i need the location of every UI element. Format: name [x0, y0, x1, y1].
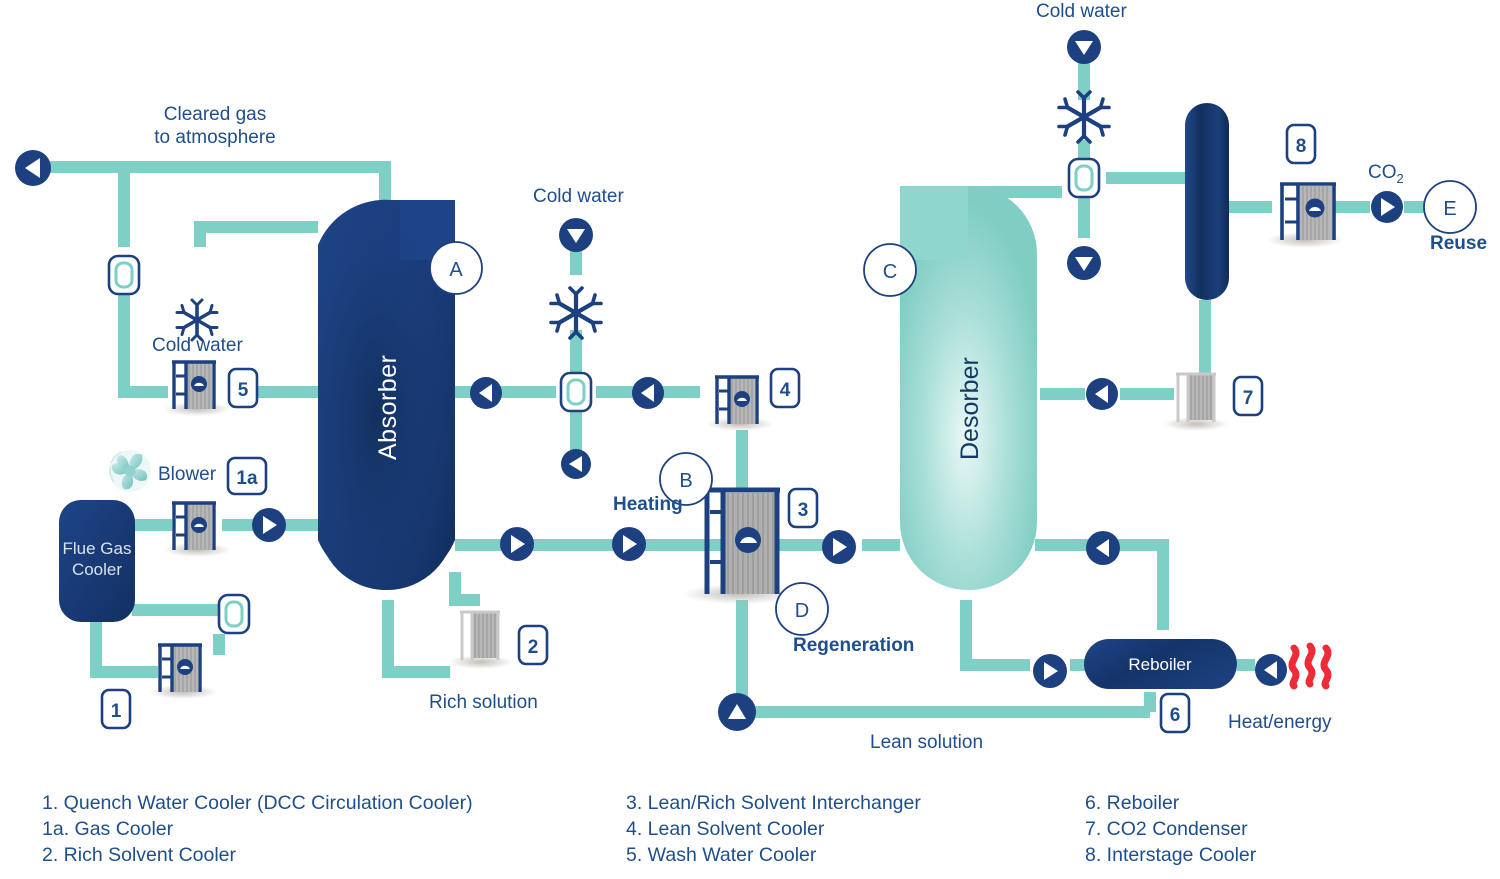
tag-1a: 1a — [228, 458, 266, 494]
pipe-rich-down — [455, 572, 480, 600]
pipe-absorber-bottom — [388, 600, 450, 672]
label-cleared-gas: Cleared gas to atmosphere — [130, 103, 300, 149]
arrow-desorber-vapor — [1086, 378, 1118, 410]
valve-coldwater-mid — [561, 373, 591, 411]
label-heat-energy: Heat/energy — [1228, 711, 1332, 734]
label-absorber: Absorber — [374, 330, 400, 460]
arrow-cooler4-left — [632, 377, 664, 409]
legend-column-2: 3. Lean/Rich Solvent Interchanger 4. Lea… — [626, 790, 921, 868]
tag-3: 3 — [789, 489, 817, 527]
svg-text:7: 7 — [1243, 388, 1254, 409]
label-blower: Blower — [158, 463, 216, 486]
arrow-coldwater-mid-in — [559, 218, 593, 252]
svg-text:2: 2 — [528, 637, 539, 658]
arrow-reboiler-heat-in — [1255, 654, 1287, 686]
stage-marker-E: E — [1424, 181, 1476, 233]
legend-item: 5. Wash Water Cooler — [626, 842, 921, 868]
legend-item: 7. CO2 Condenser — [1085, 816, 1256, 842]
svg-text:C: C — [883, 261, 897, 283]
heat-exchanger-2 — [449, 612, 513, 669]
stage-marker-C: C — [864, 244, 916, 296]
reboiler-label-text: Reboiler — [1128, 655, 1192, 674]
pipe-desorber-bottom-down — [966, 600, 1030, 665]
arrow-coldwater-mid-down — [561, 449, 591, 479]
arrow-rich-1 — [500, 527, 534, 561]
snowflake-icon-mid — [551, 288, 601, 338]
svg-text:4: 4 — [780, 380, 791, 401]
arrow-coldwater-top-in — [1067, 30, 1101, 64]
svg-text:1a: 1a — [236, 468, 258, 489]
label-heating: Heating — [613, 493, 683, 516]
svg-text:3: 3 — [798, 500, 809, 521]
valve-coldwater-top — [1069, 159, 1099, 197]
svg-text:D: D — [795, 600, 809, 622]
legend-item: 8. Interstage Cooler — [1085, 842, 1256, 868]
label-desorber: Desorber — [956, 330, 982, 460]
tag-5: 5 — [229, 369, 257, 407]
reboiler-vessel: Reboiler — [1084, 639, 1237, 689]
svg-text:A: A — [449, 259, 463, 281]
label-cold-water-top: Cold water — [1036, 0, 1127, 23]
heat-exchanger-8 — [1267, 184, 1343, 248]
svg-text:1: 1 — [111, 701, 122, 722]
stage-marker-D: D — [776, 583, 828, 635]
svg-text:8: 8 — [1296, 136, 1307, 157]
svg-text:E: E — [1443, 198, 1456, 220]
heat-exchanger-4 — [706, 377, 774, 431]
label-cold-water-left: Cold water — [152, 334, 243, 357]
pipe-cleared-gas — [50, 167, 385, 207]
tag-2: 2 — [519, 626, 547, 664]
valve-quench — [219, 595, 249, 633]
svg-text:5: 5 — [238, 380, 249, 401]
arrow-lean-pump — [718, 693, 756, 731]
arrow-reboiler-in — [1033, 654, 1067, 688]
label-flue-gas-cooler: Flue Gas Cooler — [52, 538, 142, 580]
arrow-coldwater-top-out — [1067, 246, 1101, 280]
tag-8: 8 — [1287, 125, 1315, 163]
tag-4: 4 — [771, 369, 799, 407]
co2-column-vessel — [1185, 103, 1229, 300]
label-lean-solution: Lean solution — [870, 731, 983, 754]
pipe-washwater-top-in — [200, 227, 318, 247]
heat-waves-icon — [1292, 646, 1328, 686]
legend-item: 1a. Gas Cooler — [42, 816, 473, 842]
arrow-cleared-gas-out — [15, 150, 51, 186]
svg-text:B: B — [679, 470, 692, 492]
legend-item: 2. Rich Solvent Cooler — [42, 842, 473, 868]
label-rich-solution: Rich solution — [429, 691, 538, 714]
tag-1: 1 — [102, 690, 130, 728]
stage-marker-A: A — [430, 242, 482, 294]
legend-item: 1. Quench Water Cooler (DCC Circulation … — [42, 790, 473, 816]
arrow-rich-to-desorber — [822, 530, 856, 564]
tag-7: 7 — [1234, 377, 1262, 415]
svg-text:6: 6 — [1170, 705, 1181, 726]
label-cold-water-mid: Cold water — [533, 185, 624, 208]
label-regeneration: Regeneration — [793, 634, 914, 657]
heat-exchanger-5 — [163, 362, 231, 416]
fan-icon — [109, 450, 151, 492]
arrow-co2-out — [1371, 191, 1403, 223]
valve-washwater — [109, 256, 139, 294]
legend-item: 4. Lean Solvent Cooler — [626, 816, 921, 842]
label-co2: CO2 — [1368, 161, 1404, 190]
arrow-blower-out — [252, 508, 286, 542]
label-reuse: Reuse — [1430, 232, 1487, 255]
heat-exchanger-1 — [149, 645, 217, 699]
process-flow-diagram: Reboiler — [0, 0, 1500, 879]
snowflake-icon-top — [1059, 92, 1109, 142]
legend-column-1: 1. Quench Water Cooler (DCC Circulation … — [42, 790, 473, 868]
legend-column-3: 6. Reboiler 7. CO2 Condenser 8. Intersta… — [1085, 790, 1256, 868]
arrow-reboiler-return — [1086, 531, 1120, 565]
arrow-rich-2 — [612, 527, 646, 561]
legend-item: 3. Lean/Rich Solvent Interchanger — [626, 790, 921, 816]
heat-exchanger-1a — [163, 503, 231, 557]
tag-6: 6 — [1161, 694, 1189, 732]
legend-item: 6. Reboiler — [1085, 790, 1256, 816]
arrow-washwater-in — [470, 377, 502, 409]
heat-exchanger-7 — [1164, 374, 1228, 431]
